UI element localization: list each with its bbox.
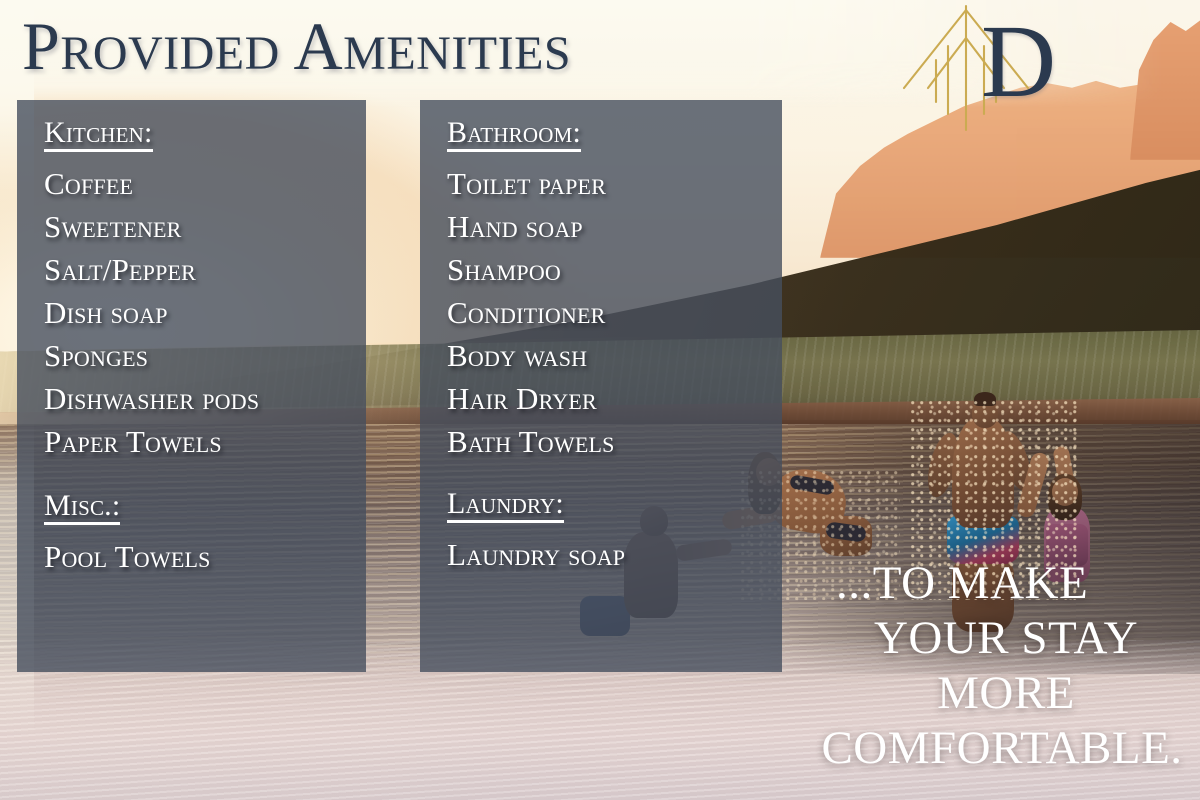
right-panel-list: Bathroom: Toilet paper Hand soap Shampoo… bbox=[447, 118, 774, 576]
list-item: Hair Dryer bbox=[447, 377, 774, 420]
list-item: Body wash bbox=[447, 334, 774, 377]
list-item: Hand soap bbox=[447, 205, 774, 248]
list-item: Shampoo bbox=[447, 248, 774, 291]
amenities-panel-left: Kitchen: Coffee Sweetener Salt/Pepper Di… bbox=[17, 100, 366, 672]
list-item: Conditioner bbox=[447, 291, 774, 334]
group-heading-misc: Misc.: bbox=[44, 491, 120, 525]
list-item: Paper Towels bbox=[44, 420, 358, 463]
tagline-line-3: MORE bbox=[820, 666, 1192, 721]
amenities-flyer: Provided Amenities D Kitchen: Coffee Swe… bbox=[0, 0, 1200, 800]
list-item: Sweetener bbox=[44, 205, 358, 248]
tagline: ...TO MAKE YOUR STAY MORE COMFORTABLE. bbox=[820, 556, 1192, 776]
group-laundry: Laundry: Laundry soap bbox=[447, 489, 774, 576]
group-heading-bathroom: Bathroom: bbox=[447, 118, 581, 152]
left-panel-list: Kitchen: Coffee Sweetener Salt/Pepper Di… bbox=[44, 118, 358, 578]
logo-monogram: D bbox=[981, 10, 1056, 114]
group-heading-kitchen: Kitchen: bbox=[44, 118, 153, 152]
group-misc: Misc.: Pool Towels bbox=[44, 491, 358, 578]
list-item: Sponges bbox=[44, 334, 358, 377]
tagline-line-1: ...TO MAKE bbox=[836, 556, 1192, 611]
list-item: Bath Towels bbox=[447, 420, 774, 463]
group-kitchen: Kitchen: Coffee Sweetener Salt/Pepper Di… bbox=[44, 118, 358, 463]
list-item: Coffee bbox=[44, 162, 358, 205]
list-item: Dish soap bbox=[44, 291, 358, 334]
list-item: Dishwasher pods bbox=[44, 377, 358, 420]
list-item: Laundry soap bbox=[447, 533, 774, 576]
amenities-panel-right: Bathroom: Toilet paper Hand soap Shampoo… bbox=[420, 100, 782, 672]
list-item: Pool Towels bbox=[44, 535, 358, 578]
page-title: Provided Amenities bbox=[22, 12, 571, 80]
group-bathroom: Bathroom: Toilet paper Hand soap Shampoo… bbox=[447, 118, 774, 463]
list-item: Toilet paper bbox=[447, 162, 774, 205]
tagline-line-2: YOUR STAY bbox=[820, 611, 1192, 666]
brand-logo: D bbox=[898, 2, 1088, 132]
group-heading-laundry: Laundry: bbox=[447, 489, 564, 523]
list-item: Salt/Pepper bbox=[44, 248, 358, 291]
tagline-line-4: COMFORTABLE. bbox=[812, 721, 1192, 776]
